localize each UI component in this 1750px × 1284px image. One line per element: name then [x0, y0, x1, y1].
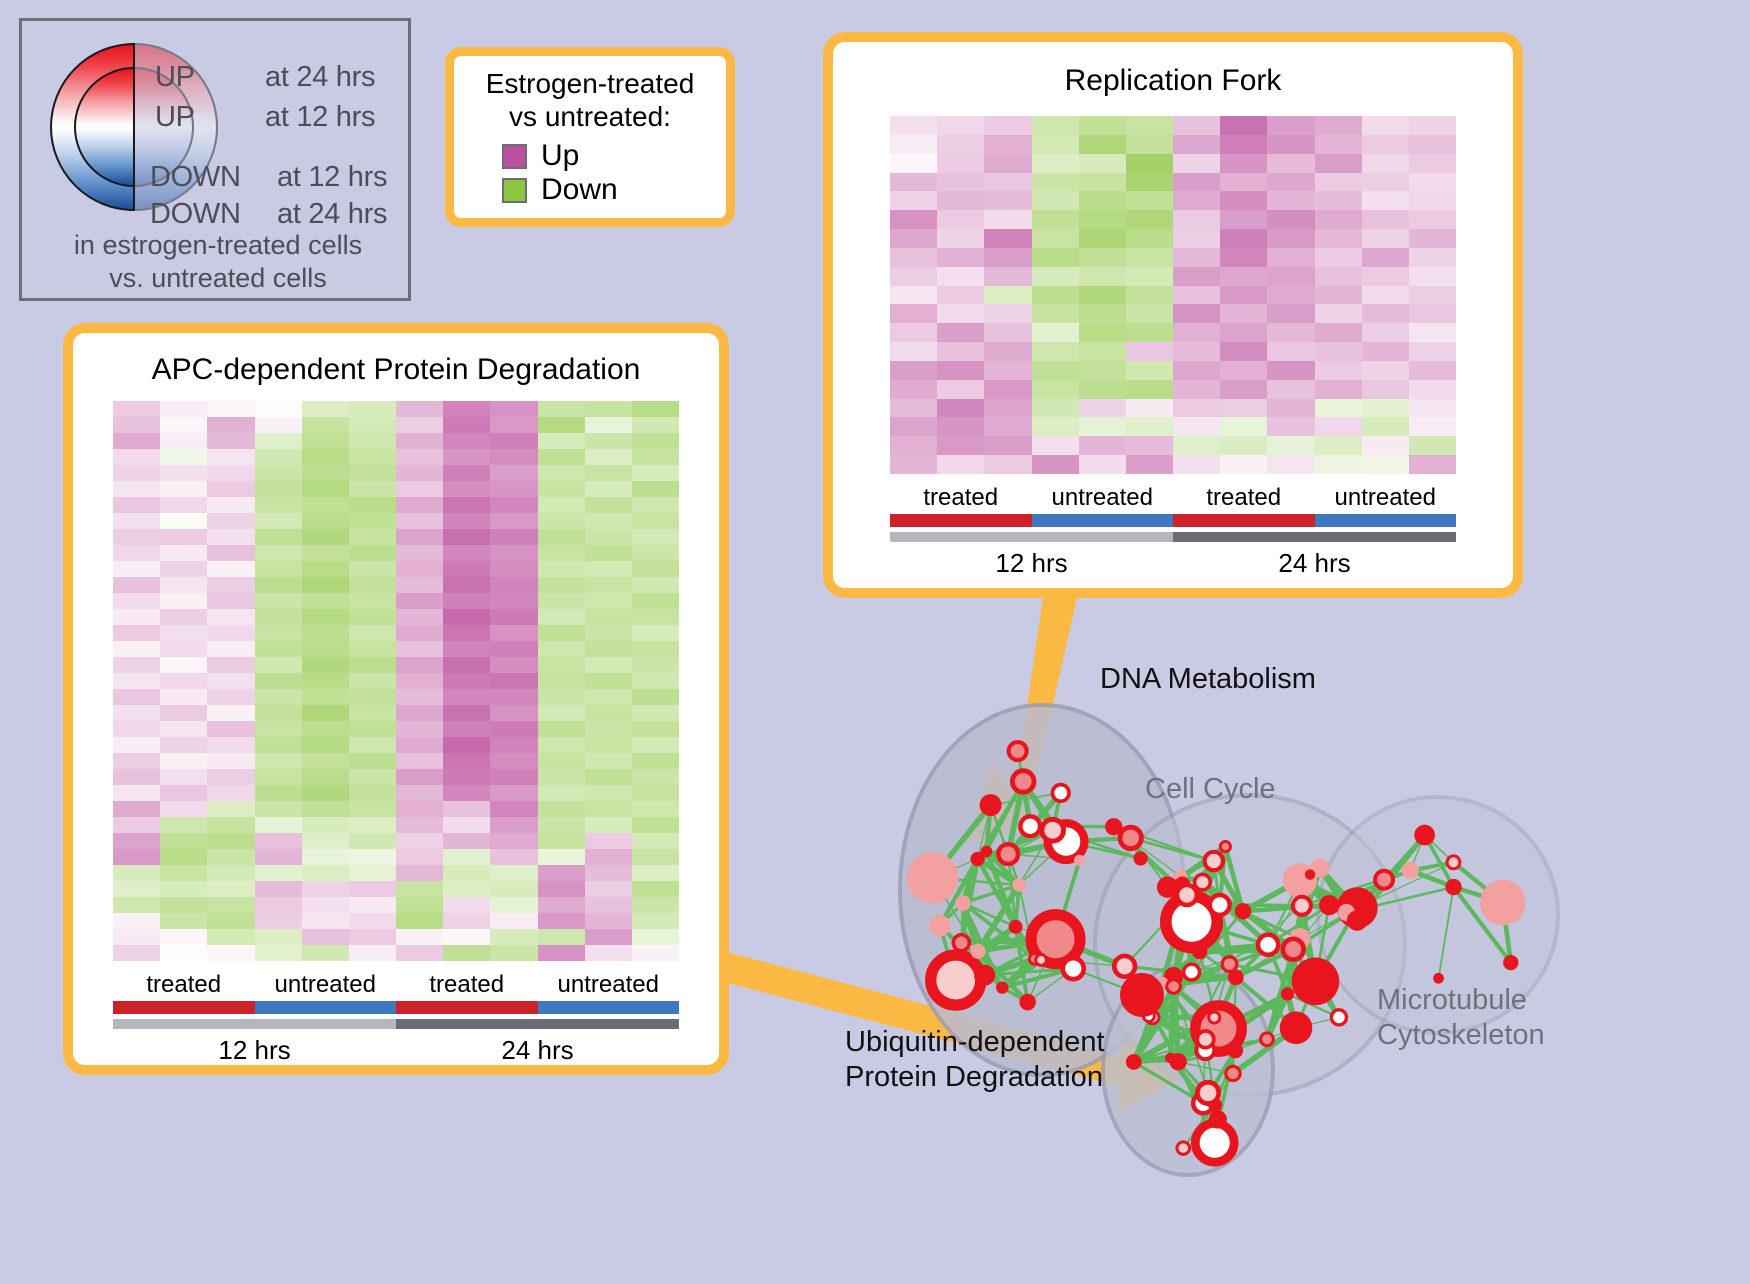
heatmap-cell [490, 593, 537, 609]
heatmap-cell [113, 417, 160, 433]
heatmap-cell [349, 721, 396, 737]
heatmap-cell [207, 689, 254, 705]
heatmap-cell [490, 609, 537, 625]
heatmap-cell [585, 417, 632, 433]
heatmap-cell [207, 481, 254, 497]
heatmap-group-labels-replication-fork: treateduntreatedtreateduntreated [890, 484, 1456, 512]
heatmap-cell [302, 417, 349, 433]
network-node[interactable] [1235, 903, 1251, 919]
heatmap-cell [1315, 286, 1362, 305]
heatmap-cell [1032, 116, 1079, 135]
heatmap-cell [1409, 361, 1456, 380]
heatmap-cell [1362, 342, 1409, 361]
heatmap-cell [1126, 154, 1173, 173]
heatmap-cell [113, 513, 160, 529]
heatmap-cell [302, 529, 349, 545]
heatmap-cell [490, 689, 537, 705]
group-label: untreated [538, 971, 680, 999]
network-node[interactable] [1226, 1066, 1240, 1080]
heatmap-cell [443, 865, 490, 881]
heatmap-cell [396, 881, 443, 897]
network-node[interactable] [1305, 869, 1315, 879]
heatmap-cell [113, 865, 160, 881]
heatmap-cell [302, 465, 349, 481]
heatmap-cell [443, 481, 490, 497]
heatmap-cell [632, 705, 679, 721]
heatmap-cell [207, 865, 254, 881]
network-node[interactable] [974, 965, 995, 986]
network-node[interactable] [1020, 816, 1040, 836]
network-node[interactable] [996, 981, 1008, 993]
network-node[interactable] [953, 935, 969, 951]
heatmap-cell [302, 657, 349, 673]
heatmap-cell [1079, 399, 1126, 418]
heatmap-cell [632, 657, 679, 673]
network-node[interactable] [970, 944, 985, 959]
heatmap-cell [585, 849, 632, 865]
heatmap-cell [207, 449, 254, 465]
heatmap-cell [1267, 248, 1314, 267]
heatmap-cell [160, 753, 207, 769]
heatmap-cell [113, 609, 160, 625]
network-node[interactable] [1009, 920, 1023, 934]
network-node[interactable] [970, 852, 984, 866]
network-node[interactable] [1042, 819, 1064, 841]
heatmap-cell [443, 657, 490, 673]
time-bar-replication-fork [890, 532, 1456, 542]
heatmap-cell [1220, 135, 1267, 154]
heatmap-cell [160, 881, 207, 897]
heatmap-cell [632, 449, 679, 465]
wheel-dir-0: UP [155, 61, 195, 94]
heatmap-cell [585, 609, 632, 625]
heatmap-cell [937, 154, 984, 173]
heatmap-cell [1079, 342, 1126, 361]
heatmap-cell [538, 897, 585, 913]
heatmap-cell [632, 465, 679, 481]
heatmap-cell [396, 577, 443, 593]
heatmap-cell [160, 849, 207, 865]
heatmap-cell [538, 401, 585, 417]
heatmap-cell [255, 753, 302, 769]
heatmap-cell [207, 721, 254, 737]
network-node[interactable] [1074, 855, 1085, 866]
heatmap-cell [207, 753, 254, 769]
heatmap-cell [632, 593, 679, 609]
heatmap-cell [538, 849, 585, 865]
heatmap-cell [160, 545, 207, 561]
wheel-time-3: at 24 hrs [277, 198, 387, 231]
heatmap-cell [207, 577, 254, 593]
network-node[interactable] [1197, 1082, 1218, 1103]
heatmap-cell [538, 449, 585, 465]
heatmap-cell [585, 561, 632, 577]
network-node[interactable] [1177, 1142, 1190, 1155]
time-labels-replication-fork: 12 hrs24 hrs [890, 548, 1456, 579]
treatment-bar-segment [538, 1001, 680, 1014]
network-node[interactable] [1283, 939, 1304, 960]
network-node[interactable] [1447, 856, 1460, 869]
heatmap-cell [255, 737, 302, 753]
network-node[interactable] [1445, 879, 1461, 895]
heatmap-cell [937, 210, 984, 229]
heatmap-cell [349, 481, 396, 497]
heatmap-cell [207, 625, 254, 641]
heatmap-cell [443, 417, 490, 433]
network-node[interactable] [1036, 955, 1047, 966]
network-node[interactable] [1319, 895, 1339, 915]
network-node[interactable] [1012, 771, 1034, 793]
heatmap-cell [632, 929, 679, 945]
network-node[interactable] [1222, 957, 1237, 972]
heatmap-cell [207, 609, 254, 625]
heatmap-cell [585, 593, 632, 609]
heatmap-cell [302, 625, 349, 641]
heatmap-cell [443, 945, 490, 961]
heatmap-cell [113, 561, 160, 577]
heatmap-cell [349, 513, 396, 529]
wheel-dir-1: UP [155, 101, 195, 134]
heatmap-cell [1032, 304, 1079, 323]
heatmap-cell [255, 865, 302, 881]
network-node[interactable] [1195, 1123, 1234, 1162]
heatmap-cell [349, 897, 396, 913]
heatmap-cell [113, 689, 160, 705]
network-node[interactable] [1105, 818, 1122, 835]
cluster-label-ubiquitin-protein-degradation: Ubiquitin-dependent Protein Degradation [845, 1025, 1105, 1095]
heatmap-cell [1220, 229, 1267, 248]
heatmap-cell [1220, 304, 1267, 323]
heatmap-cell [255, 849, 302, 865]
treatment-bar-replication-fork [890, 514, 1456, 527]
network-node[interactable] [1220, 842, 1230, 852]
heatmap-cell [1126, 229, 1173, 248]
heatmap-cell [443, 433, 490, 449]
heatmap-cell [302, 833, 349, 849]
heatmap-cell [1362, 399, 1409, 418]
network-node[interactable] [1414, 825, 1435, 846]
heatmap-cell [113, 721, 160, 737]
heatmap-cell [349, 401, 396, 417]
heatmap-cell [396, 865, 443, 881]
heatmap-cell [349, 657, 396, 673]
heatmap-cell [160, 417, 207, 433]
heatmap-cell [160, 865, 207, 881]
network-node[interactable] [931, 955, 981, 1005]
network-node[interactable] [1192, 944, 1207, 959]
heatmap-cell [1032, 342, 1079, 361]
heatmap-cell [113, 529, 160, 545]
heatmap-cell [255, 609, 302, 625]
heatmap-cell [1315, 191, 1362, 210]
heatmap-cell [1267, 210, 1314, 229]
heatmap-cell [1362, 116, 1409, 135]
network-node[interactable] [1195, 874, 1211, 890]
heatmap-cell [255, 641, 302, 657]
network-node[interactable] [1292, 958, 1340, 1006]
heatmap-cell [1032, 248, 1079, 267]
network-svg [790, 615, 1750, 1279]
heatmap-cell [632, 417, 679, 433]
heatmap-cell [349, 865, 396, 881]
heatmap-cell [160, 737, 207, 753]
network-node[interactable] [1375, 871, 1393, 889]
network-node[interactable] [1019, 994, 1036, 1011]
heatmap-cell [443, 561, 490, 577]
heatmap-cell [207, 833, 254, 849]
heatmap-cell [937, 173, 984, 192]
heatmap-cell [302, 753, 349, 769]
heatmap-cell [1126, 304, 1173, 323]
heatmap-cell [1362, 191, 1409, 210]
heatmap-cell [1079, 248, 1126, 267]
key-row-down: Down [502, 173, 618, 207]
heatmap-cell [1126, 191, 1173, 210]
heatmap-cell [160, 897, 207, 913]
heatmap-cell [984, 436, 1031, 455]
heatmap-cell [113, 833, 160, 849]
heatmap-cell [1173, 286, 1220, 305]
heatmap-cell [1362, 248, 1409, 267]
network-node[interactable] [929, 915, 950, 936]
heatmap-cell [538, 529, 585, 545]
heatmap-cell [538, 593, 585, 609]
network-node[interactable] [1167, 980, 1181, 994]
heatmap-cell [490, 737, 537, 753]
network-node[interactable] [1280, 1012, 1313, 1045]
network-node[interactable] [1126, 1054, 1142, 1070]
heatmap-cell [937, 116, 984, 135]
heatmap-cell [1126, 342, 1173, 361]
heatmap-cell [1409, 436, 1456, 455]
wheel-time-0: at 24 hrs [265, 61, 375, 94]
heatmap-cell [890, 248, 937, 267]
heatmap-cell [349, 433, 396, 449]
network-node[interactable] [1133, 851, 1147, 865]
heatmap-cell [1126, 455, 1173, 474]
heatmap-cell [113, 801, 160, 817]
heatmap-cell [490, 865, 537, 881]
heatmap-cell [1173, 455, 1220, 474]
cluster-label-dna-metabolism: DNA Metabolism [1100, 663, 1316, 696]
heatmap-cell [160, 705, 207, 721]
network-node[interactable] [1293, 897, 1311, 915]
heatmap-cell [585, 721, 632, 737]
heatmap-cell [490, 881, 537, 897]
heatmap-cell [1362, 436, 1409, 455]
network-node[interactable] [1009, 742, 1027, 760]
heatmap-cell [1173, 210, 1220, 229]
heatmap-cell [585, 641, 632, 657]
heatmap-cell [1315, 116, 1362, 135]
heatmap-cell [890, 286, 937, 305]
network-node[interactable] [1402, 862, 1419, 879]
heatmap-cell [585, 897, 632, 913]
heatmap-cell [1362, 455, 1409, 474]
heatmap-cell [490, 897, 537, 913]
heatmap-cell [490, 449, 537, 465]
network-node[interactable] [980, 794, 1002, 816]
heatmap-cell [302, 849, 349, 865]
heatmap-cell [349, 817, 396, 833]
heatmap-cell [207, 801, 254, 817]
heatmap-cell [302, 577, 349, 593]
heatmap-cell [937, 399, 984, 418]
heatmap-cell [255, 689, 302, 705]
heatmap-cell [1126, 267, 1173, 286]
network-node[interactable] [1177, 885, 1197, 905]
wheel-caption-line2: vs. untreated cells [22, 262, 414, 295]
heatmap-cell [113, 769, 160, 785]
network-node[interactable] [1281, 987, 1294, 1000]
heatmap-cell [396, 833, 443, 849]
heatmap-cell [349, 609, 396, 625]
network-node[interactable] [1120, 973, 1164, 1017]
heatmap-cell [490, 705, 537, 721]
heatmap-cell [396, 465, 443, 481]
heatmap-cell [538, 465, 585, 481]
heatmap-cell [443, 817, 490, 833]
heatmap-cell [160, 513, 207, 529]
network-node[interactable] [998, 844, 1018, 864]
heatmap-cell [160, 769, 207, 785]
heatmap-cell [207, 641, 254, 657]
heatmap-cell [585, 705, 632, 721]
heatmap-cell [302, 433, 349, 449]
heatmap-cell [443, 529, 490, 545]
heatmap-cell [984, 267, 1031, 286]
network-node[interactable] [1503, 955, 1518, 970]
network-node[interactable] [1165, 1053, 1176, 1064]
heatmap-cell [1173, 417, 1220, 436]
heatmap-cell [443, 737, 490, 753]
heatmap-cell [538, 881, 585, 897]
heatmap-cell [632, 577, 679, 593]
heatmap-cell [160, 625, 207, 641]
heatmap-cell [490, 545, 537, 561]
heatmap-cell [585, 833, 632, 849]
network-node[interactable] [1063, 958, 1084, 979]
heatmap-cell [984, 191, 1031, 210]
group-label: treated [396, 971, 538, 999]
heatmap-cell [1362, 417, 1409, 436]
heatmap-cell [396, 753, 443, 769]
heatmap-cell [113, 593, 160, 609]
heatmap-apc [113, 401, 679, 961]
heatmap-cell [585, 801, 632, 817]
heatmap-cell [1315, 210, 1362, 229]
heatmap-cell [1173, 267, 1220, 286]
heatmap-cell [1409, 323, 1456, 342]
heatmap-cell [1032, 173, 1079, 192]
network-node[interactable] [1205, 852, 1223, 870]
heatmap-cell [160, 817, 207, 833]
network-node[interactable] [1114, 956, 1135, 977]
network-node[interactable] [1184, 964, 1200, 980]
heatmap-cell [443, 769, 490, 785]
heatmap-cell [443, 801, 490, 817]
network-node[interactable] [1227, 1043, 1243, 1059]
heatmap-cell [1267, 191, 1314, 210]
heatmap-cell [1032, 380, 1079, 399]
heatmap-cell [538, 945, 585, 961]
wheel-time-1: at 12 hrs [265, 101, 375, 134]
heatmap-cell [1362, 173, 1409, 192]
heatmap-cell [632, 865, 679, 881]
network-node[interactable] [1209, 1012, 1220, 1023]
network-node[interactable] [1209, 1110, 1227, 1128]
heatmap-cell [1079, 210, 1126, 229]
heatmap-cell [1409, 229, 1456, 248]
heatmap-cell [302, 897, 349, 913]
network-node[interactable] [1331, 1010, 1346, 1025]
heatmap-cell [302, 561, 349, 577]
up-swatch-icon [502, 144, 527, 169]
heatmap-cell [1409, 380, 1456, 399]
heatmap-cell [1267, 173, 1314, 192]
heatmap-cell [349, 881, 396, 897]
heatmap-cell [585, 657, 632, 673]
heatmap-cell [255, 465, 302, 481]
network-node[interactable] [955, 895, 970, 910]
treatment-bar-segment [890, 514, 1032, 527]
heatmap-cell [632, 913, 679, 929]
heatmap-cell [302, 705, 349, 721]
network-node[interactable] [1120, 827, 1141, 848]
heatmap-cell [890, 116, 937, 135]
heatmap-cell [1315, 380, 1362, 399]
heatmap-cell [396, 609, 443, 625]
heatmap-cell [255, 529, 302, 545]
heatmap-cell [490, 785, 537, 801]
heatmap-cell [207, 417, 254, 433]
heatmap-cell [890, 380, 937, 399]
heatmap-cell [349, 593, 396, 609]
network-node[interactable] [1052, 785, 1069, 802]
network-node[interactable] [1347, 910, 1368, 931]
heatmap-cell [1362, 267, 1409, 286]
heatmap-cell [113, 577, 160, 593]
heatmap-cell [937, 286, 984, 305]
network-node[interactable] [1012, 878, 1026, 892]
heatmap-cell [302, 545, 349, 561]
heatmap-cell [984, 399, 1031, 418]
heatmap-cell [1220, 399, 1267, 418]
network-node[interactable] [1480, 880, 1525, 925]
heatmap-cell [585, 817, 632, 833]
heatmap-cell [443, 897, 490, 913]
heatmap-cell [255, 817, 302, 833]
key-title-line1: Estrogen-treated [486, 67, 695, 100]
figure-canvas: UP at 24 hrs UP at 12 hrs DOWN at 12 hrs… [0, 0, 1750, 1279]
network-node[interactable] [1258, 935, 1278, 955]
heatmap-cell [113, 497, 160, 513]
heatmap-cell [255, 433, 302, 449]
heatmap-cell [207, 401, 254, 417]
heatmap-cell [890, 417, 937, 436]
heatmap-cell [1126, 173, 1173, 192]
heatmap-cell [443, 401, 490, 417]
heatmap-cell [1362, 210, 1409, 229]
network-node[interactable] [1210, 895, 1230, 915]
heatmap-cell [1126, 323, 1173, 342]
heatmap-cell [1315, 248, 1362, 267]
network-node[interactable] [907, 852, 958, 903]
heatmap-cell [1315, 173, 1362, 192]
network-node[interactable] [1197, 1031, 1214, 1048]
network-node[interactable] [1261, 1033, 1274, 1046]
heatmap-cell [1315, 135, 1362, 154]
